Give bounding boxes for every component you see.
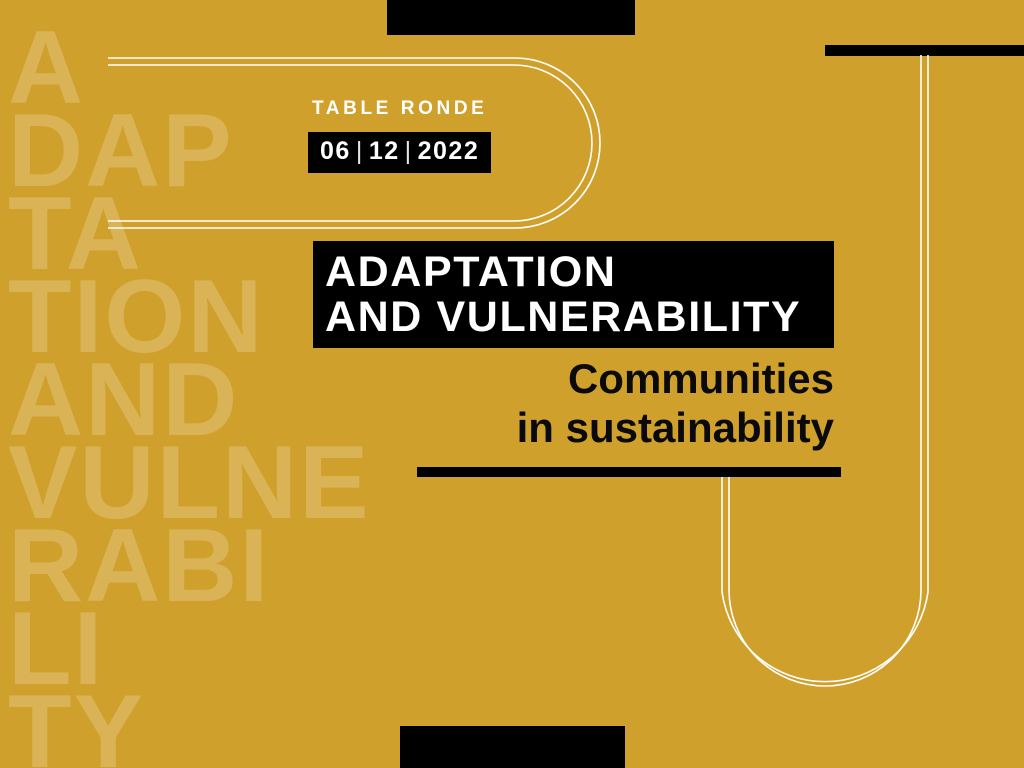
subtitle-line-2: in sustainability <box>430 403 834 452</box>
date-month: 12 <box>369 137 400 165</box>
watermark-line-2: DAP <box>8 99 234 203</box>
black-block-bottom <box>400 726 625 768</box>
main-title-line-1: ADAPTATION <box>325 250 834 295</box>
watermark-line-8: LI <box>8 597 104 701</box>
date-day: 06 <box>320 137 351 165</box>
event-date-badge: 06|12|2022 <box>308 132 491 173</box>
main-title-line-2: AND VULNERABILITY <box>325 295 834 340</box>
subtitle-line-1: Communities <box>430 354 834 403</box>
header-block: TABLE RONDE 06|12|2022 <box>308 98 491 173</box>
watermark-line-1: A <box>8 16 85 120</box>
black-bar-top-right <box>825 45 1024 56</box>
watermark-line-9: TY <box>8 680 145 768</box>
black-block-top <box>387 0 635 35</box>
main-title-box: ADAPTATION AND VULNERABILITY <box>313 241 834 348</box>
watermark-line-7: RABI <box>8 514 270 618</box>
date-year: 2022 <box>418 137 480 165</box>
watermark-line-6: VULNE <box>8 431 370 535</box>
subtitle-underline-rule <box>417 467 841 477</box>
watermark-line-3: TA <box>8 182 143 286</box>
watermark-line-5: AND <box>8 348 239 452</box>
subtitle-block: Communities in sustainability <box>430 354 834 452</box>
watermark-line-4: TION <box>8 265 264 369</box>
poster-canvas: A DAP TA TION AND VULNE RABI LI TY TABLE… <box>0 0 1024 768</box>
date-separator-2: | <box>400 137 418 165</box>
date-separator-1: | <box>351 137 369 165</box>
event-kicker: TABLE RONDE <box>312 98 491 120</box>
